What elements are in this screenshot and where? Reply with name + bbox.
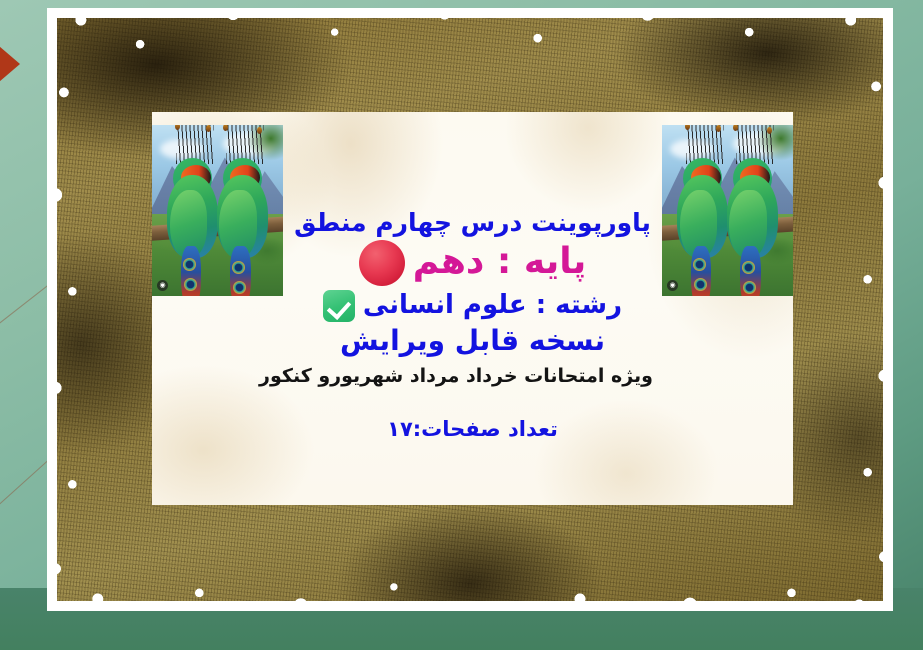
parrot-tail-eyespot xyxy=(693,258,706,271)
parrot-crest-dot xyxy=(175,125,180,130)
content-panel: ◉ xyxy=(152,112,793,505)
parrot-figure xyxy=(212,149,272,296)
slide-text-block: پاورپوینت درس چهارم منطق پایه : دهم رشته… xyxy=(292,208,653,442)
parrot-crest-dot xyxy=(257,127,262,134)
left-accent-triangle-icon xyxy=(0,40,20,88)
field-line-inner: رشته : علوم انسانی xyxy=(323,290,622,322)
field-label: رشته : علوم انسانی xyxy=(363,290,622,321)
parrot-crest-dot xyxy=(685,125,690,130)
photo-badge-icon: ◉ xyxy=(157,280,168,291)
page-count-label: تعداد صفحات:۱۷ xyxy=(292,417,653,442)
parrot-tail-eyespot xyxy=(232,261,245,274)
slide-stage: ◉ xyxy=(0,0,923,650)
parrot-tail-eyespot xyxy=(742,261,755,274)
photo-badge-icon: ◉ xyxy=(667,280,678,291)
exam-scope-label: ویژه امتحانات خرداد مرداد شهریورو کنکور xyxy=(292,365,653,387)
grade-line-inner: پایه : دهم xyxy=(359,240,587,286)
slide-title: پاورپوینت درس چهارم منطق xyxy=(292,208,653,238)
parrot-tail-eyespot xyxy=(183,258,196,271)
slide-card: ◉ xyxy=(47,8,893,611)
red-circle-icon xyxy=(359,240,405,286)
version-label: نسخه قابل ویرایش xyxy=(292,324,653,357)
parrot-tail-eyespot xyxy=(743,281,756,294)
parrot-photo-left: ◉ xyxy=(152,125,283,296)
parrot-tail-eyespot xyxy=(233,281,246,294)
parrot-figure xyxy=(722,149,782,296)
grade-line-row: پایه : دهم xyxy=(292,240,653,286)
field-line-row: رشته : علوم انسانی xyxy=(292,290,653,322)
grade-label: پایه : دهم xyxy=(413,241,587,283)
white-check-mark-icon xyxy=(323,290,355,322)
parrot-photo-right: ◉ xyxy=(662,125,793,296)
parrot-crest-dot xyxy=(767,127,772,134)
